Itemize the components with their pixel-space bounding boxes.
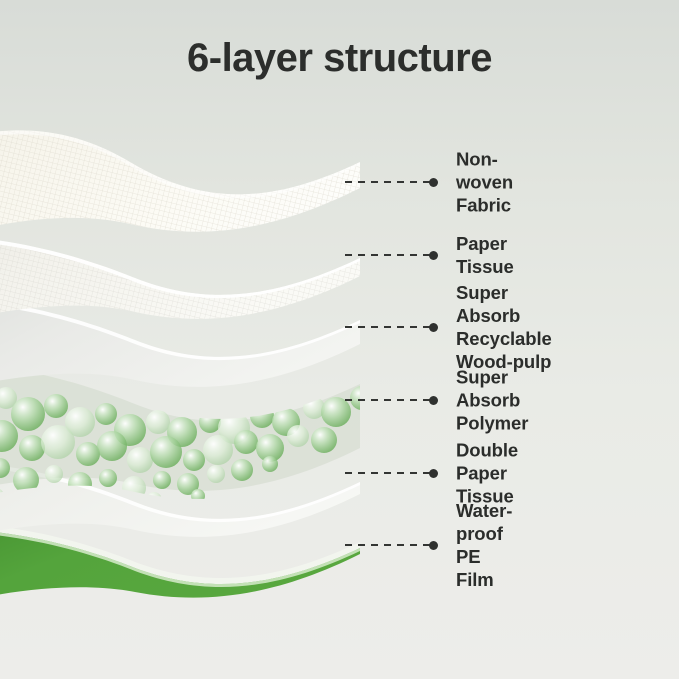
leader-line-double-paper-tissue: [345, 472, 431, 474]
leader-line-water-proof-pe-film: [345, 544, 431, 546]
layer-stack-illustration: [0, 96, 400, 656]
callout-label-super-absorb-polymer: Super Absorb Polymer: [456, 366, 528, 435]
node-dot-double-paper-tissue: [429, 469, 438, 478]
node-dot-super-absorb-polymer: [429, 396, 438, 405]
leader-line-paper-tissue: [345, 254, 431, 256]
callout-label-paper-tissue: Paper Tissue: [456, 232, 514, 278]
leader-line-super-absorb-polymer: [345, 399, 431, 401]
node-dot-non-woven-fabric: [429, 178, 438, 187]
callout-label-recyclable-wood-pulp: Super Absorb Recyclable Wood-pulp: [456, 281, 552, 373]
leader-line-non-woven-fabric: [345, 181, 431, 183]
page-title: 6-layer structure: [0, 36, 679, 81]
callout-label-water-proof-pe-film: Water-proof PE Film: [456, 499, 512, 591]
node-dot-paper-tissue: [429, 251, 438, 260]
layer-structure-infographic: 6-layer structure: [0, 0, 679, 679]
layer-non-woven-fabric: [0, 96, 400, 656]
node-dot-water-proof-pe-film: [429, 541, 438, 550]
callout-label-non-woven-fabric: Non-woven Fabric: [456, 148, 513, 217]
node-dot-recyclable-wood-pulp: [429, 323, 438, 332]
callout-label-double-paper-tissue: Double Paper Tissue: [456, 439, 518, 508]
leader-line-recyclable-wood-pulp: [345, 326, 431, 328]
